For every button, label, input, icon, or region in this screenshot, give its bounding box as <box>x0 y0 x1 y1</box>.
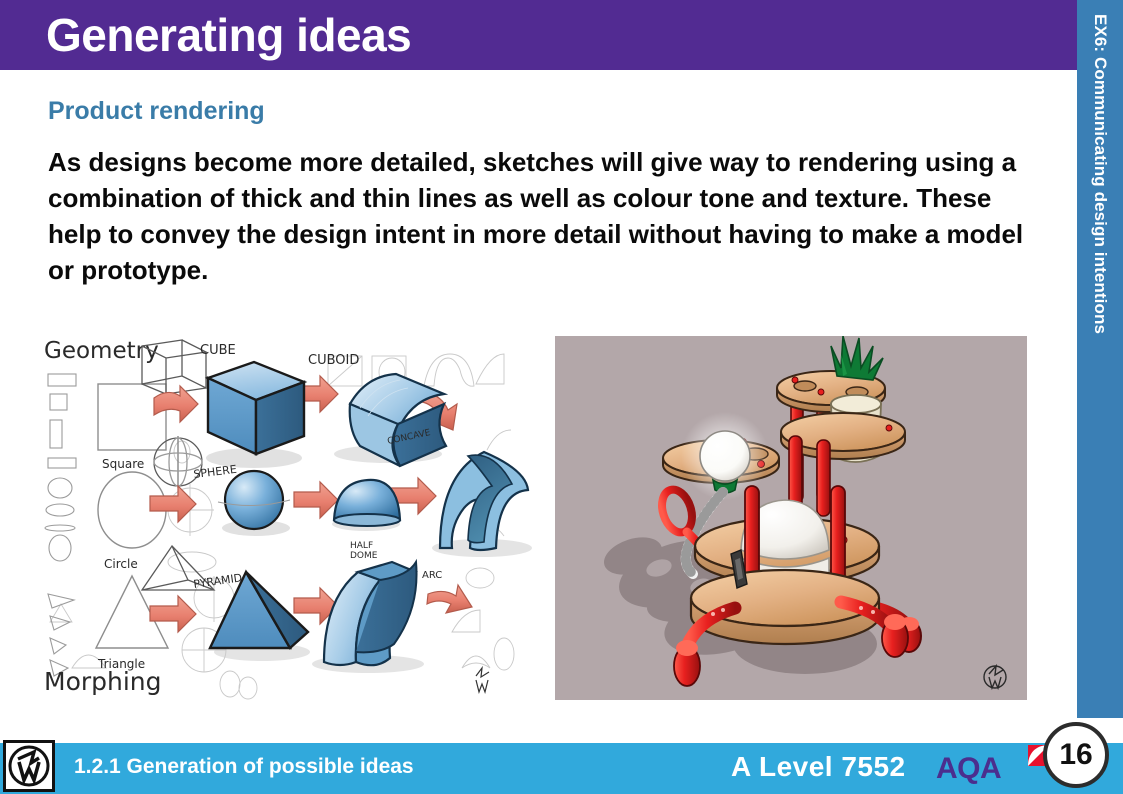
footer-qualification-label: A Level 7552 <box>731 751 906 783</box>
sketch-label-cuboid: CUBOID <box>308 353 359 368</box>
sketch-label-arc: ARC <box>422 570 442 581</box>
body-paragraph: As designs become more detailed, sketche… <box>48 144 1048 288</box>
sketch-heading-bottom: Morphing <box>44 667 162 696</box>
sketch-label-half-dome: HALF <box>350 541 373 551</box>
unit-sidebar: EX6: Communicating design intentions <box>1077 0 1123 718</box>
page-title: Generating ideas <box>46 6 411 64</box>
page-number-badge: 16 <box>1043 722 1109 788</box>
unit-sidebar-label: EX6: Communicating design intentions <box>1090 14 1110 334</box>
sketch-label-cube: CUBE <box>200 343 236 358</box>
section-subtitle: Product rendering <box>48 97 265 126</box>
sketch-label-square: Square <box>102 457 144 471</box>
aqa-wordmark: AQA <box>936 752 1001 786</box>
footer-topic-label: 1.2.1 Generation of possible ideas <box>74 755 414 779</box>
sketch-label-circle: Circle <box>104 557 138 571</box>
rendered-cube <box>206 362 304 468</box>
slide: Generating ideas EX6: Communicating desi… <box>0 0 1123 794</box>
brand-logo <box>3 740 55 792</box>
geometry-morphing-sketch-figure: Geometry Square <box>32 332 532 702</box>
product-render-figure <box>555 336 1027 700</box>
sketch-label-dome: DOME <box>350 551 378 561</box>
